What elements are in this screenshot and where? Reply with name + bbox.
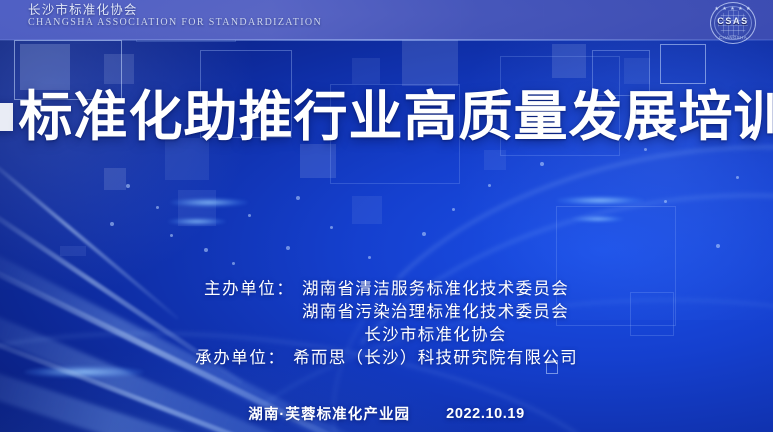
organizer-line: 湖南省污染治理标准化技术委员会 [204, 301, 569, 324]
decor-dot [156, 206, 159, 209]
decor-square [402, 38, 458, 86]
emblem-text: CSAS [710, 16, 756, 26]
decor-dot [286, 246, 290, 250]
decor-dot [170, 234, 173, 237]
decor-dot [422, 232, 426, 236]
decor-dot [452, 208, 455, 211]
organizer-value: 希而思（长沙）科技研究院有限公司 [293, 347, 578, 370]
association-logo-text: 长沙市标准化协会 CHANGSHA ASSOCIATION FOR STANDA… [28, 3, 322, 28]
csas-emblem-icon: ★ ★ ★ ★ ★ CSAS CHANGSHA [710, 2, 756, 44]
decor-square [352, 196, 382, 224]
light-streak [168, 218, 226, 225]
decor-dot [488, 184, 491, 187]
organizer-line: 主办单位： 湖南省清洁服务标准化技术委员会 [204, 278, 569, 301]
decor-dot [296, 196, 300, 200]
decor-dot [540, 162, 544, 166]
organizer-label: 主办单位： [204, 278, 302, 301]
decor-dot [644, 148, 647, 151]
organizer-label: 承办单位： [195, 347, 293, 370]
square-bullet-icon [0, 103, 13, 131]
event-date: 2022.10.19 [446, 406, 525, 422]
emblem-stars: ★ ★ ★ ★ ★ [710, 6, 756, 12]
organizer-value: 湖南省清洁服务标准化技术委员会 [302, 278, 569, 301]
page-title: 标准化助推行业高质量发展培训 [19, 90, 773, 144]
decor-frame [660, 44, 706, 84]
decor-square [104, 168, 126, 190]
association-name-cn: 长沙市标准化协会 [28, 3, 322, 17]
light-streak [170, 198, 248, 207]
header-divider [0, 39, 773, 41]
organizer-block: 主办单位： 湖南省清洁服务标准化技术委员会 湖南省污染治理标准化技术委员会 长沙… [0, 278, 773, 370]
decor-dot [126, 184, 130, 188]
association-name-en: CHANGSHA ASSOCIATION FOR STANDARDIZATION [28, 17, 322, 28]
title-row: 标准化助推行业高质量发展培训 [0, 86, 773, 148]
decor-dot [110, 222, 114, 226]
decor-dot [330, 226, 333, 229]
event-banner: 长沙市标准化协会 CHANGSHA ASSOCIATION FOR STANDA… [0, 0, 773, 432]
footer: 湖南·芙蓉标准化产业园 2022.10.19 [0, 403, 773, 424]
organizer-line: 承办单位： 希而思（长沙）科技研究院有限公司 [195, 347, 578, 370]
emblem-subtext: CHANGSHA [710, 35, 756, 40]
organizer-value: 长沙市标准化协会 [364, 324, 506, 347]
event-venue: 湖南·芙蓉标准化产业园 [248, 403, 410, 424]
organizer-line: 长沙市标准化协会 [266, 324, 506, 347]
decor-square [352, 58, 380, 84]
decor-dot [248, 214, 251, 217]
organizer-value: 湖南省污染治理标准化技术委员会 [302, 301, 569, 324]
